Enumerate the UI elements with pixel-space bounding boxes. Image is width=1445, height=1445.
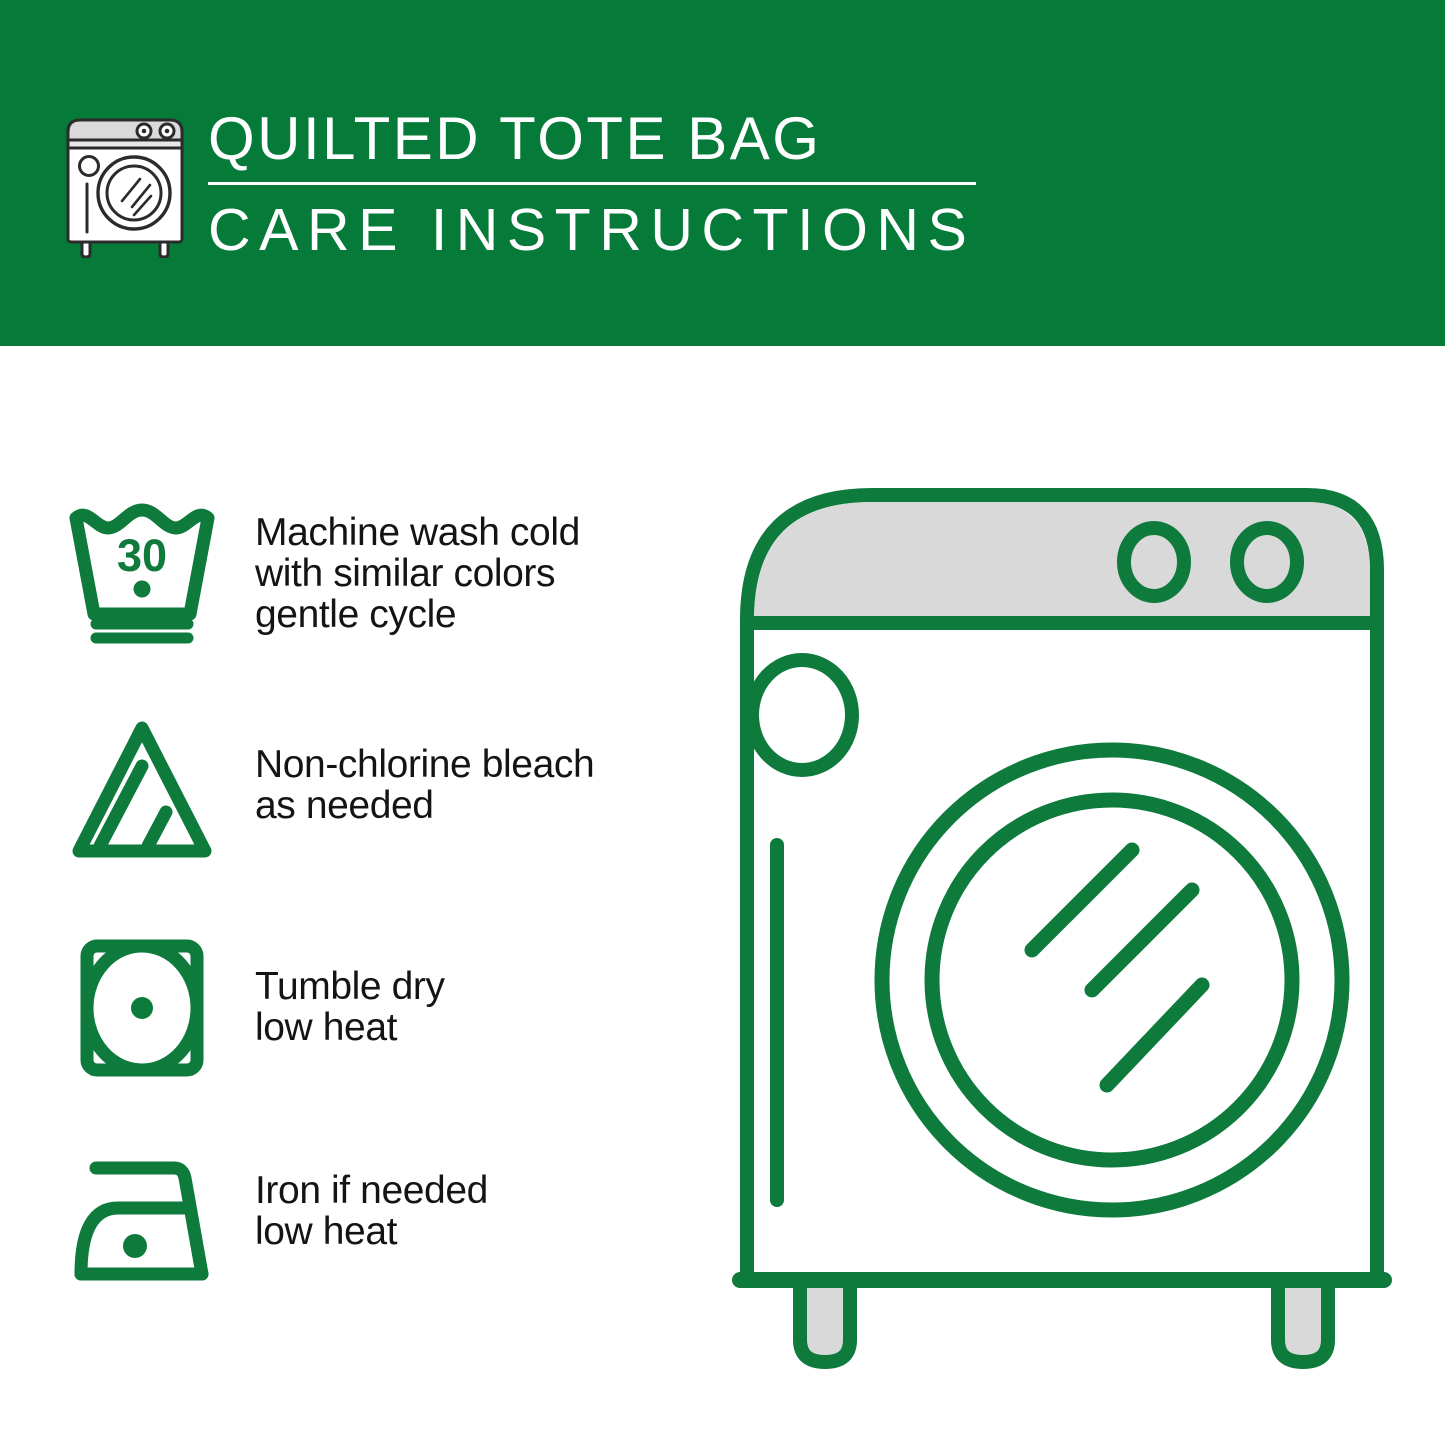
page-title: QUILTED TOTE BAG bbox=[208, 104, 1008, 174]
dial-left bbox=[1124, 528, 1184, 596]
machine-wash-30-gentle-icon: 30 bbox=[62, 496, 222, 644]
care-instruction-list: 30 Machine wash cold with similar colors… bbox=[0, 346, 722, 1445]
care-instructions-page: QUILTED TOTE BAG CARE INSTRUCTIONS bbox=[0, 0, 1445, 1445]
non-chlorine-bleach-icon bbox=[62, 716, 222, 864]
detergent-knob bbox=[752, 660, 852, 770]
header-band: QUILTED TOTE BAG CARE INSTRUCTIONS bbox=[0, 0, 1445, 346]
care-row: Tumble dry low heat bbox=[0, 934, 722, 1082]
header-text-block: QUILTED TOTE BAG CARE INSTRUCTIONS bbox=[208, 104, 1008, 263]
page-subtitle: CARE INSTRUCTIONS bbox=[208, 197, 1008, 263]
iron-low-heat-icon bbox=[62, 1146, 222, 1294]
dial-right bbox=[1237, 528, 1297, 596]
care-row: Non-chlorine bleach as needed bbox=[0, 716, 722, 864]
care-text: Non-chlorine bleach as needed bbox=[255, 716, 594, 826]
care-text: Machine wash cold with similar colors ge… bbox=[255, 496, 580, 635]
care-text: Tumble dry low heat bbox=[255, 934, 445, 1048]
care-row: Iron if needed low heat bbox=[0, 1146, 722, 1294]
tumble-dry-low-icon bbox=[62, 934, 222, 1082]
leg-right bbox=[1278, 1280, 1328, 1362]
front-load-washing-machine-illustration bbox=[722, 460, 1445, 1380]
care-row: 30 Machine wash cold with similar colors… bbox=[0, 496, 722, 644]
care-text: Iron if needed low heat bbox=[255, 1146, 488, 1252]
leg-left bbox=[800, 1280, 850, 1362]
wash-temperature-label: 30 bbox=[117, 530, 167, 581]
washing-machine-icon bbox=[62, 100, 188, 258]
title-divider bbox=[208, 182, 976, 185]
